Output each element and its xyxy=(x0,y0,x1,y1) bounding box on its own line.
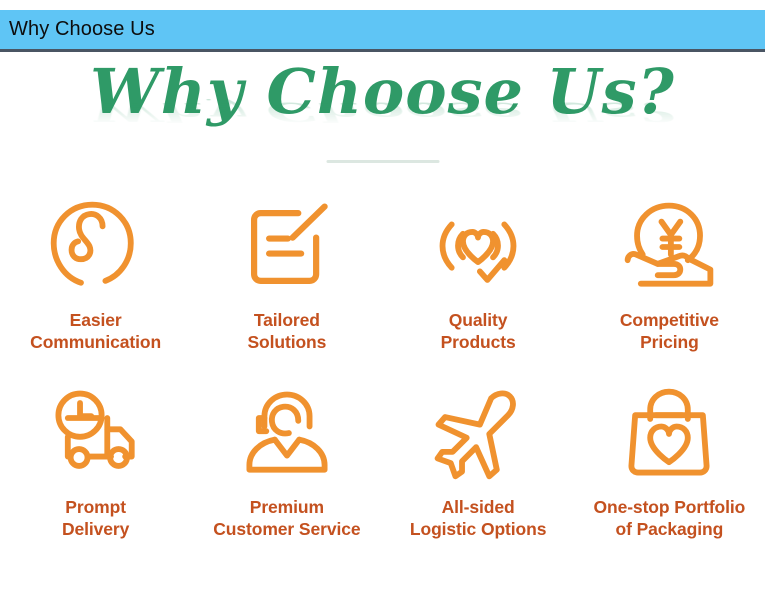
feature-item-tailored-solutions[interactable]: Tailored Solutions xyxy=(191,195,382,370)
headset-agent-icon xyxy=(240,382,334,486)
airplane-icon xyxy=(431,382,525,486)
feature-item-quality-products[interactable]: Quality Products xyxy=(383,195,574,370)
feature-label: Easier Communication xyxy=(30,309,161,354)
feature-item-prompt-delivery[interactable]: Prompt Delivery xyxy=(0,382,191,557)
feature-label: One-stop Portfolio of Packaging xyxy=(593,496,745,541)
feature-label: All-sided Logistic Options xyxy=(410,496,546,541)
feature-item-one-stop-portfolio-of-packaging[interactable]: One-stop Portfolio of Packaging xyxy=(574,382,765,557)
title-divider xyxy=(326,160,439,163)
window-title: Why Choose Us xyxy=(0,18,155,41)
feature-item-easier-communication[interactable]: Easier Communication xyxy=(0,195,191,370)
feature-item-competitive-pricing[interactable]: Competitive Pricing xyxy=(574,195,765,370)
hand-holding-yen-coin-icon xyxy=(622,195,716,299)
feature-item-all-sided-logistic-options[interactable]: All-sided Logistic Options xyxy=(383,382,574,557)
feature-label: Competitive Pricing xyxy=(620,309,719,354)
document-pencil-icon xyxy=(240,195,334,299)
feature-grid: Easier Communication Tailored Solutions xyxy=(0,195,765,557)
shopping-bag-heart-icon xyxy=(622,382,716,486)
delivery-truck-clock-icon xyxy=(49,382,143,486)
feature-label: Quality Products xyxy=(441,309,516,354)
hero-heading-block: Why Choose Us? Why Choose Us? xyxy=(0,55,765,171)
heart-signal-check-icon xyxy=(431,195,525,299)
window-title-bar: Why Choose Us xyxy=(0,10,765,52)
feature-label: Premium Customer Service xyxy=(213,496,360,541)
ear-listening-icon xyxy=(49,195,143,299)
feature-item-premium-customer-service[interactable]: Premium Customer Service xyxy=(191,382,382,557)
page-title-reflection: Why Choose Us? xyxy=(90,99,675,125)
feature-label: Prompt Delivery xyxy=(62,496,129,541)
feature-label: Tailored Solutions xyxy=(247,309,326,354)
page-content: Why Choose Us? Why Choose Us? Easier Com… xyxy=(0,55,765,599)
